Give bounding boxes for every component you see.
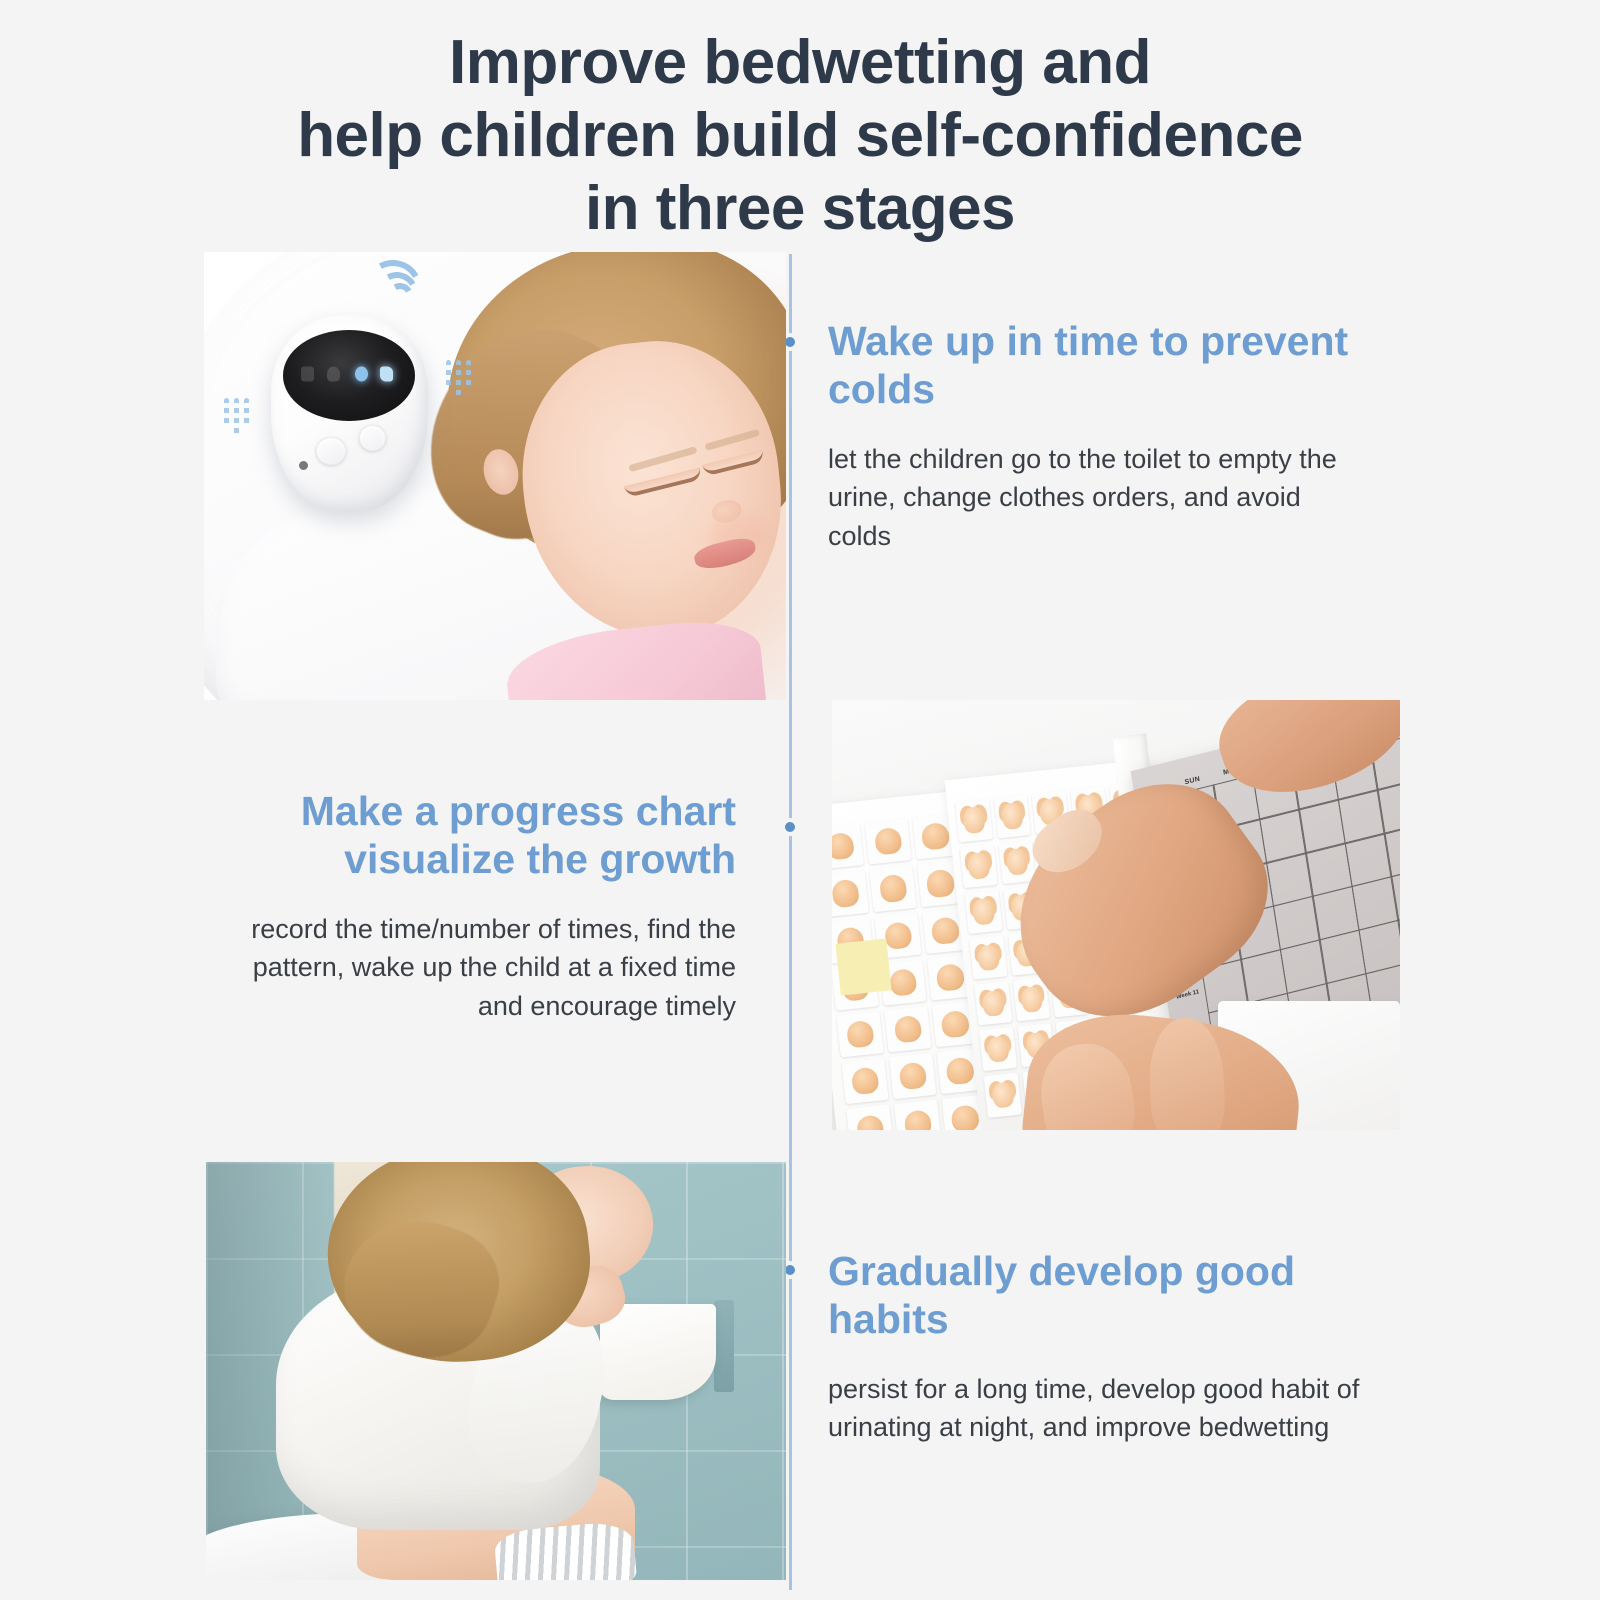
child-eyebrow-left	[628, 446, 697, 472]
title-line-2: help children build self-confidence	[0, 99, 1600, 172]
battery-icon	[301, 366, 314, 381]
device-display-panel	[283, 330, 415, 421]
microphone-hole-icon	[299, 461, 308, 470]
child-eyebrow-right	[704, 429, 760, 451]
stage-3-heading: Gradually develop good habits	[828, 1248, 1376, 1344]
vibration-waves-right	[446, 360, 471, 400]
stage-3-photo	[206, 1162, 786, 1580]
timeline-vertical-line	[789, 254, 792, 1590]
timeline-dot-stage-2	[781, 818, 799, 836]
power-button	[359, 425, 386, 451]
stage-1-body: let the children go to the toilet to emp…	[828, 440, 1358, 555]
speaker-icon	[380, 366, 393, 381]
stage-2-photo: Dry Wet SUN MON TUE WED THU FRI SAT	[832, 700, 1400, 1130]
yellow-note	[835, 938, 891, 995]
stage-1-text-block: Wake up in time to prevent colds let the…	[828, 318, 1358, 555]
title-line-3: in three stages	[0, 172, 1600, 245]
stage-3-text-block: Gradually develop good habits persist fo…	[828, 1248, 1376, 1447]
stage-2-text-block: Make a progress chart visualize the grow…	[236, 788, 736, 1025]
vibration-waves-left	[224, 398, 249, 438]
toilet-paper-holder	[714, 1300, 734, 1392]
stage-1-photo	[204, 252, 786, 700]
mode-button	[316, 437, 346, 465]
stage-2-body: record the time/number of times, find th…	[236, 910, 736, 1025]
toilet-paper-roll	[600, 1304, 716, 1400]
stage-3-body: persist for a long time, develop good ha…	[828, 1370, 1376, 1447]
infographic-page: Improve bedwetting and help children bui…	[0, 0, 1600, 1600]
alarm-icon	[355, 366, 368, 381]
child-eye-right-closed	[703, 450, 766, 477]
bedwetting-alarm-device	[271, 315, 428, 512]
stage-1-heading: Wake up in time to prevent colds	[828, 318, 1358, 414]
droplet-icon	[327, 366, 340, 381]
title-line-1: Improve bedwetting and	[0, 26, 1600, 99]
page-title: Improve bedwetting and help children bui…	[0, 26, 1600, 245]
stage-2-heading: Make a progress chart visualize the grow…	[236, 788, 736, 884]
child-eye-left-closed	[624, 467, 703, 498]
